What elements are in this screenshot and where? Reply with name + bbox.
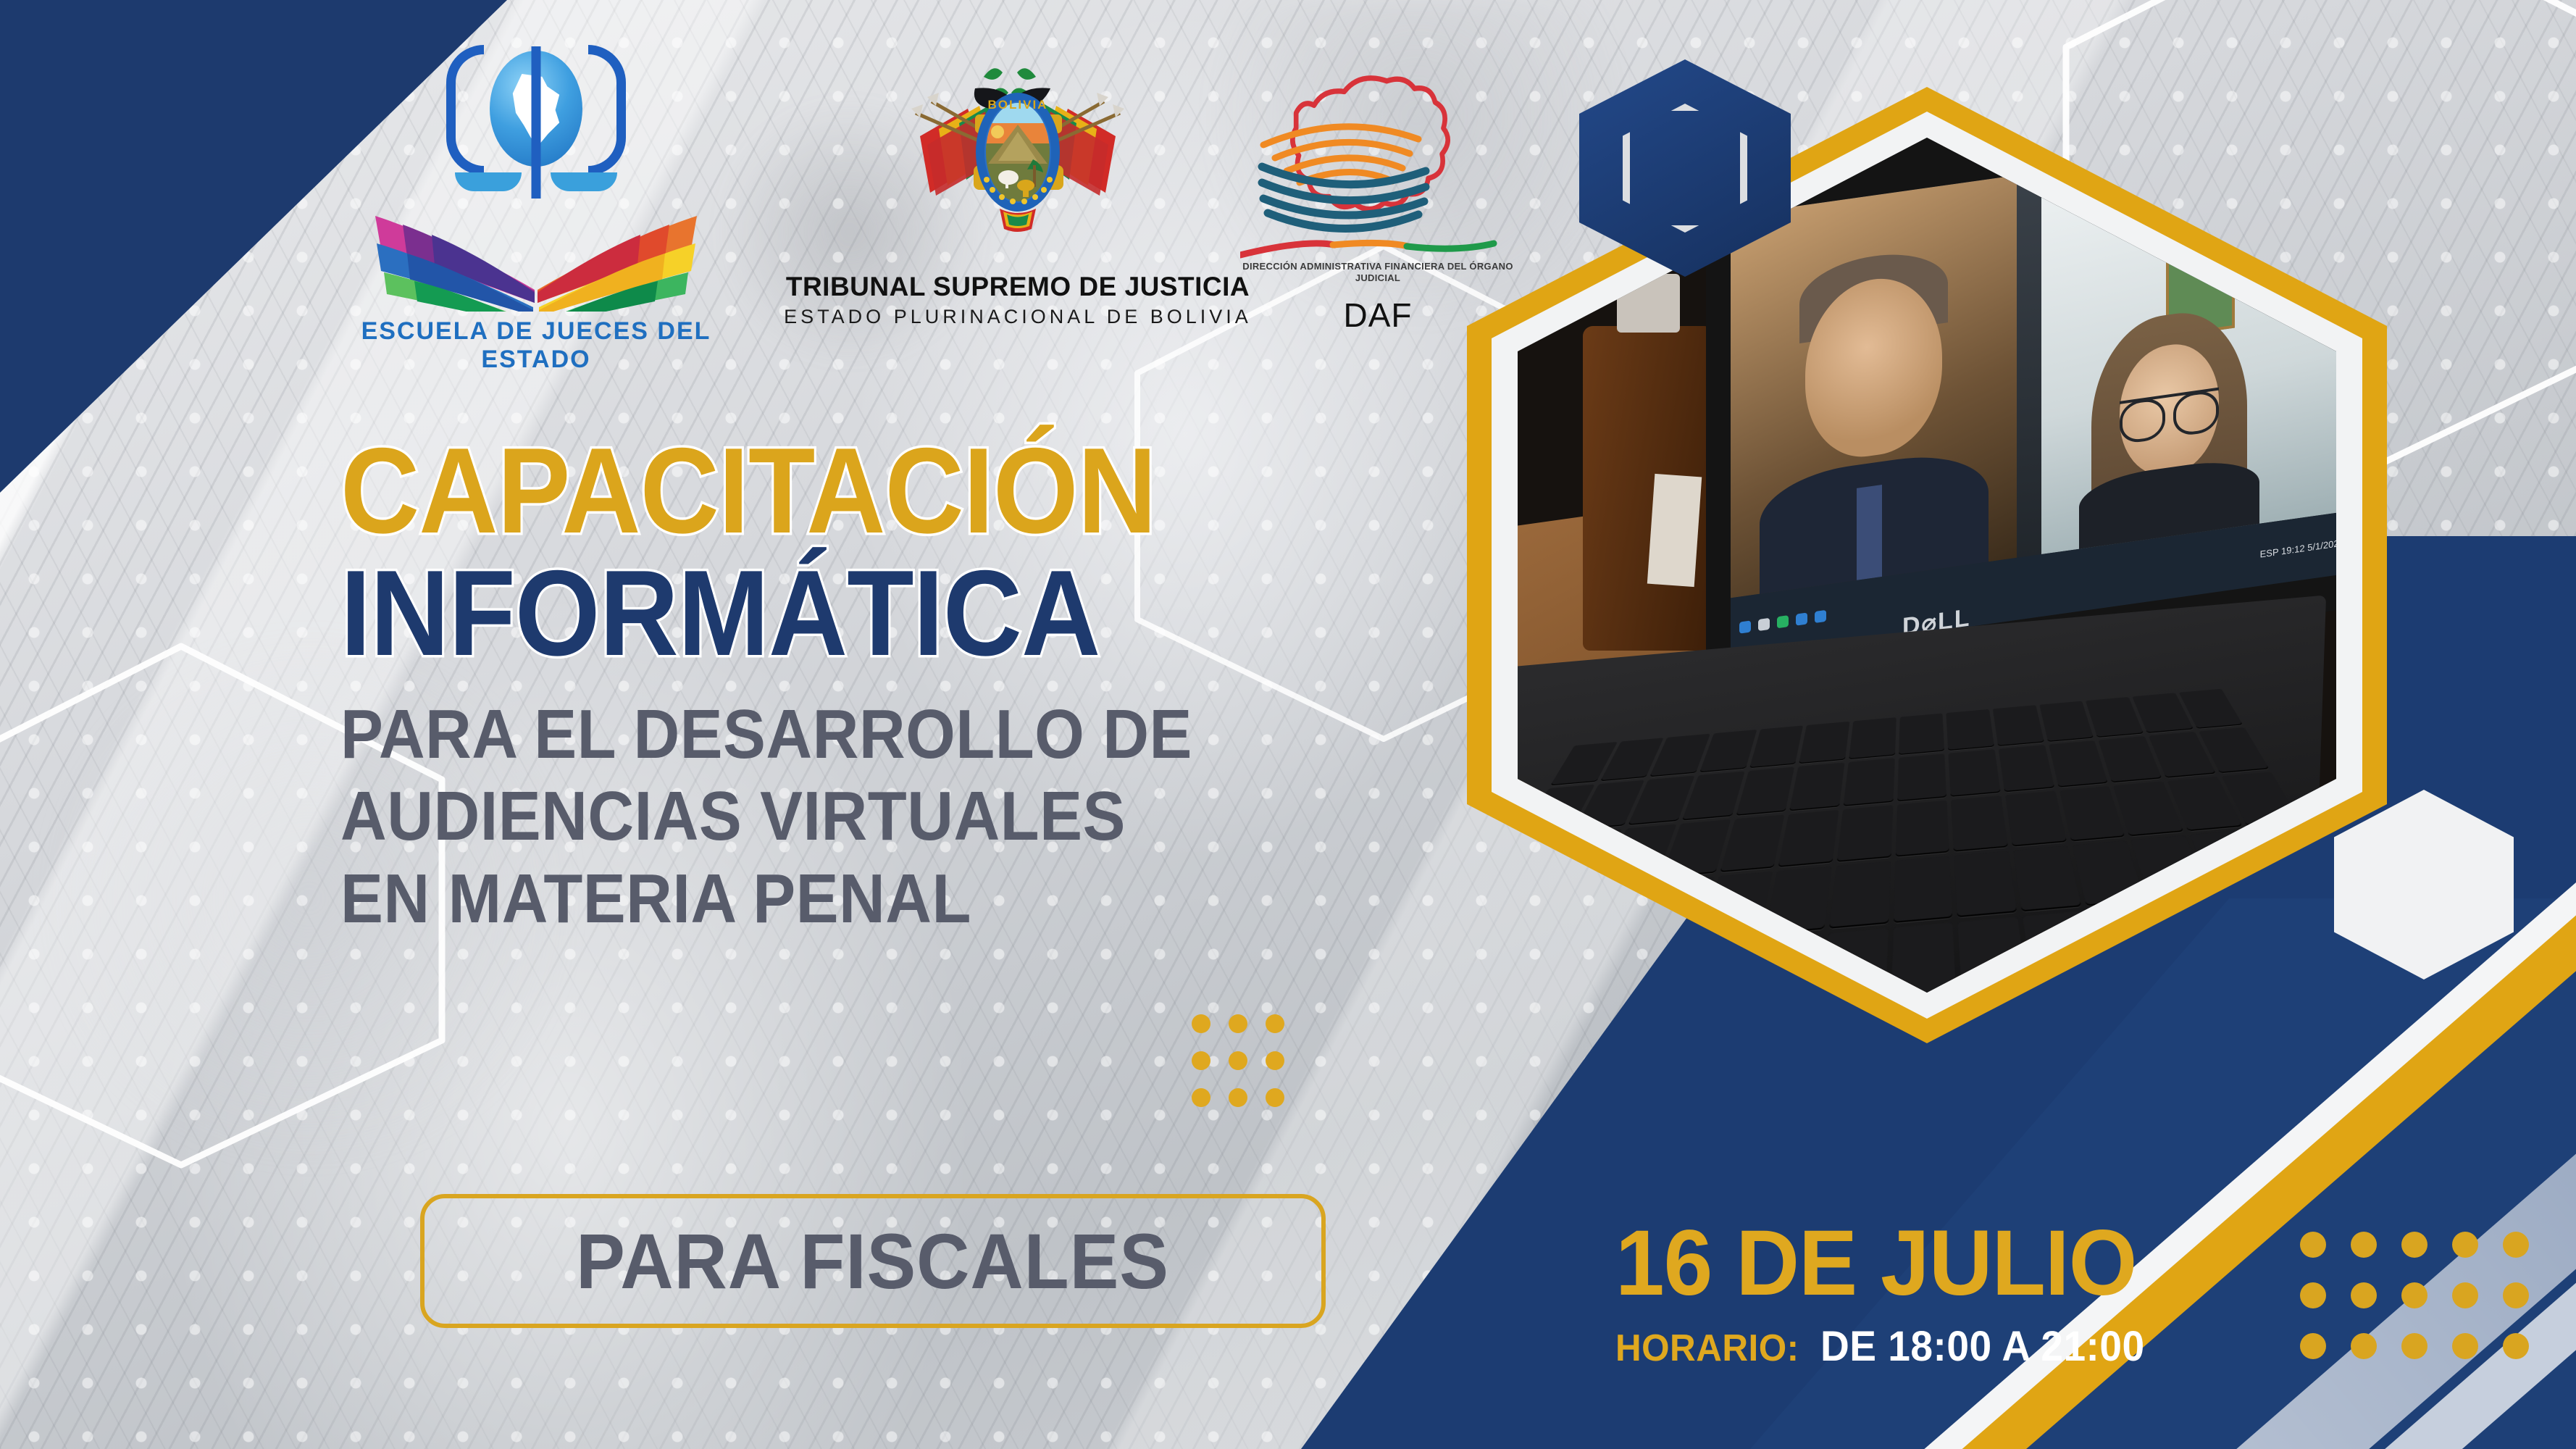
gold-dot-grid-icon: [2300, 1232, 2529, 1359]
svg-text:BOLIVIA: BOLIVIA: [988, 98, 1048, 112]
video-participant-male: [1731, 175, 2017, 598]
bolivia-coat-of-arms-icon: BOLIVIA: [898, 51, 1137, 268]
tribunal-logo-line1: TRIBUNAL SUPREMO DE JUSTICIA: [782, 272, 1253, 302]
headline-line-2: INFORMÁTICA: [340, 557, 1318, 669]
headline-block: CAPACITACIÓN INFORMÁTICA PARA EL DESARRO…: [340, 435, 1427, 940]
tribunal-supremo-logo: BOLIVIA TRIBUNAL SUPREMO DE JUSTICIA EST…: [782, 36, 1253, 369]
promotional-poster: ESCUELA DE JUECES DEL ESTADO: [0, 0, 2576, 1449]
tribunal-logo-line2: ESTADO PLURINACIONAL DE BOLIVIA: [782, 306, 1253, 328]
schedule-value: DE 18:00 A 21:00: [1820, 1322, 2145, 1371]
event-schedule-row: HORARIO: DE 18:00 A 21:00: [1615, 1322, 2340, 1371]
subtitle-line-1: PARA EL DESARROLLO DE: [340, 693, 1340, 775]
escuela-logo-caption: ESCUELA DE JUECES DEL ESTADO: [311, 317, 761, 374]
subtitle-line-3: EN MATERIA PENAL: [340, 858, 1340, 940]
event-date: 16 DE JULIO: [1615, 1210, 2304, 1316]
audience-pill: PARA FISCALES: [420, 1194, 1326, 1328]
taskbar-time: 19:12: [2281, 543, 2305, 557]
hexagon-outline-icon: [1623, 104, 1747, 233]
headline-line-1: CAPACITACIÓN: [340, 435, 1318, 547]
laptop-screen: ML ESP 19:12 5/1/2020: [1731, 138, 2336, 660]
meeting-badge: ML: [2222, 168, 2261, 213]
laptop-keyboard: [1518, 596, 2327, 993]
audience-pill-label: PARA FISCALES: [577, 1216, 1170, 1306]
open-book-icon: [311, 174, 761, 312]
schedule-label: HORARIO:: [1615, 1327, 1799, 1370]
escuela-de-jueces-logo: ESCUELA DE JUECES DEL ESTADO: [311, 29, 761, 355]
gold-dot-cluster-icon: [1192, 1014, 1284, 1107]
taskbar-date: 5/1/2020: [2307, 537, 2336, 553]
subtitle-line-2: AUDIENCIAS VIRTUALES: [340, 775, 1340, 857]
subtitle-block: PARA EL DESARROLLO DE AUDIENCIAS VIRTUAL…: [340, 693, 1427, 940]
event-date-block: 16 DE JULIO HORARIO: DE 18:00 A 21:00: [1615, 1210, 2340, 1371]
logo-row: ESCUELA DE JUECES DEL ESTADO: [0, 22, 1449, 355]
taskbar-lang: ESP: [2259, 546, 2278, 560]
